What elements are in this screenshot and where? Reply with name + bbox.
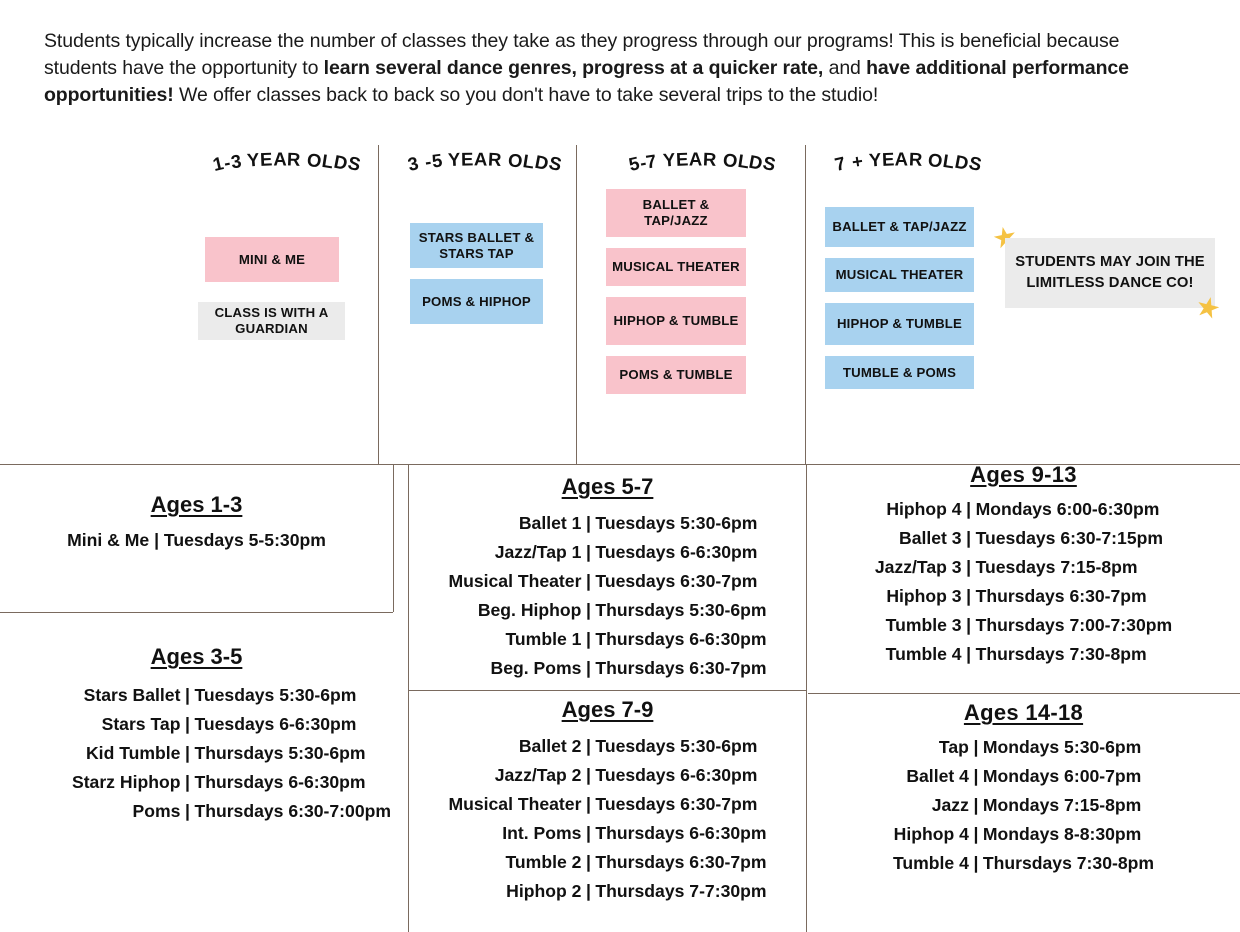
schedule-class-name: Musical Theater xyxy=(448,789,581,818)
schedule-row: Tumble 1|Thursdays 6-6:30pm xyxy=(448,624,766,653)
schedule-class-name: Musical Theater xyxy=(448,566,581,595)
schedule-row: Tap|Mondays 5:30-6pm xyxy=(893,732,1154,761)
schedule-ages-9-13: Ages 9-13 Hiphop 4|Mondays 6:00-6:30pmBa… xyxy=(807,462,1240,668)
intro-paragraph: Students typically increase the number o… xyxy=(44,28,1194,109)
schedule-class-name: Ballet 3 xyxy=(875,523,962,552)
schedule-class-name: Stars Ballet xyxy=(72,680,181,709)
schedule-row: Stars Tap|Tuesdays 6-6:30pm xyxy=(72,709,391,738)
class-chip-poms-tumble-5-7[interactable]: POMS & TUMBLE xyxy=(606,356,746,394)
schedule-row: Ballet 4|Mondays 6:00-7pm xyxy=(893,761,1154,790)
age-band-5-7-title: 5-7 YEAR OLDS xyxy=(596,135,805,175)
intro-bold-1: learn several dance genres, progress at … xyxy=(324,57,824,79)
schedule-separator: | xyxy=(581,731,595,760)
schedule-class-name: Int. Poms xyxy=(448,818,581,847)
age-band-5-7: 5-7 YEAR OLDS BALLET & TAP/JAZZ MUSICAL … xyxy=(596,135,805,405)
schedule-class-name: Starz Hiphop xyxy=(72,767,181,796)
schedule-row: Hiphop 2|Thursdays 7-7:30pm xyxy=(448,876,766,905)
schedule-ages-3-5-rows: Stars Ballet|Tuesdays 5:30-6pmStars Tap|… xyxy=(72,680,391,825)
schedule-ages-9-13-title: Ages 9-13 xyxy=(807,462,1240,488)
schedule-separator: | xyxy=(581,595,595,624)
schedule-ages-5-7: Ages 5-7 Ballet 1|Tuesdays 5:30-6pmJazz/… xyxy=(409,474,806,682)
schedule-class-name: Tumble 1 xyxy=(448,624,581,653)
schedule-separator: | xyxy=(581,789,595,818)
schedule-ages-14-18-title: Ages 14-18 xyxy=(807,700,1240,726)
schedule-class-time: Thursdays 6-6:30pm xyxy=(595,624,766,653)
limitless-dance-co-callout: STUDENTS MAY JOIN THE LIMITLESS DANCE CO… xyxy=(1005,238,1215,308)
schedule-separator: | xyxy=(581,537,595,566)
class-chip-musical-theater-5-7[interactable]: MUSICAL THEATER xyxy=(606,248,746,286)
class-chip-poms-hiphop[interactable]: POMS & HIPHOP xyxy=(410,279,543,324)
schedule-separator: | xyxy=(962,581,976,610)
schedule-separator: | xyxy=(581,876,595,905)
schedule-class-name: Ballet 4 xyxy=(893,761,969,790)
schedule-row: Hiphop 4|Mondays 8-8:30pm xyxy=(893,819,1154,848)
schedule-class-time: Thursdays 6-6:30pm xyxy=(194,767,391,796)
class-chip-hiphop-tumble-7plus[interactable]: HIPHOP & TUMBLE xyxy=(825,303,974,345)
schedule-class-name: Hiphop 3 xyxy=(875,581,962,610)
schedule-ages-3-5: Ages 3-5 Stars Ballet|Tuesdays 5:30-6pmS… xyxy=(0,644,393,825)
class-chip-musical-theater-7plus[interactable]: MUSICAL THEATER xyxy=(825,258,974,292)
schedule-row: Tumble 4|Thursdays 7:30-8pm xyxy=(893,848,1154,877)
schedule-class-name: Tumble 3 xyxy=(875,610,962,639)
schedule-separator: | xyxy=(969,732,983,761)
schedule-separator: | xyxy=(180,680,194,709)
schedule-separator: | xyxy=(969,819,983,848)
schedule-ages-14-18: Ages 14-18 Tap|Mondays 5:30-6pmBallet 4|… xyxy=(807,700,1240,877)
schedule-separator: | xyxy=(962,523,976,552)
schedule-row: Poms|Thursdays 6:30-7:00pm xyxy=(72,796,391,825)
class-chip-stars-ballet-stars-tap[interactable]: STARS BALLET & STARS TAP xyxy=(410,223,543,268)
schedule-class-time: Tuesdays 5:30-6pm xyxy=(194,680,391,709)
schedule-grid-vline-left-top xyxy=(393,464,394,612)
schedule-class-time: Thursdays 7-7:30pm xyxy=(595,876,766,905)
schedule-class-time: Thursdays 7:30-8pm xyxy=(976,639,1173,668)
schedule-class-time: Tuesdays 5:30-6pm xyxy=(595,731,766,760)
schedule-row: Tumble 3|Thursdays 7:00-7:30pm xyxy=(875,610,1172,639)
schedule-ages-7-9-title: Ages 7-9 xyxy=(409,697,806,723)
class-chip-hiphop-tumble-5-7[interactable]: HIPHOP & TUMBLE xyxy=(606,297,746,345)
schedule-class-name: Tap xyxy=(893,732,969,761)
intro-text-mid: and xyxy=(823,57,866,79)
age-band-1-3-title: 1-3 YEAR OLDS xyxy=(190,135,378,175)
schedule-class-name: Jazz/Tap 1 xyxy=(448,537,581,566)
band-divider-3 xyxy=(805,145,806,465)
schedule-class-name: Jazz/Tap 2 xyxy=(448,760,581,789)
age-band-3-5: 3 -5 YEAR OLDS STARS BALLET & STARS TAP … xyxy=(388,135,576,335)
schedule-separator: | xyxy=(962,494,976,523)
schedule-row: Hiphop 3|Thursdays 6:30-7pm xyxy=(875,581,1172,610)
schedule-class-time: Thursdays 6:30-7pm xyxy=(595,847,766,876)
schedule-class-time: Thursdays 6:30-7pm xyxy=(976,581,1173,610)
schedule-row: Beg. Poms|Thursdays 6:30-7pm xyxy=(448,653,766,682)
schedule-ages-7-9-rows: Ballet 2|Tuesdays 5:30-6pmJazz/Tap 2|Tue… xyxy=(448,731,766,905)
schedule-class-time: Thursdays 7:00-7:30pm xyxy=(976,610,1173,639)
schedule-row: Int. Poms|Thursdays 6-6:30pm xyxy=(448,818,766,847)
schedule-class-name: Tumble 2 xyxy=(448,847,581,876)
schedule-class-name: Ballet 1 xyxy=(448,508,581,537)
schedule-ages-7-9: Ages 7-9 Ballet 2|Tuesdays 5:30-6pmJazz/… xyxy=(409,697,806,905)
age-band-1-3-chips: MINI & ME CLASS IS WITH A GUARDIAN xyxy=(190,237,378,340)
schedule-class-name: Ballet 2 xyxy=(448,731,581,760)
schedule-class-name: Jazz xyxy=(893,790,969,819)
schedule-separator: | xyxy=(969,848,983,877)
schedule-class-name: Beg. Hiphop xyxy=(448,595,581,624)
schedule-class-time: Thursdays 6:30-7pm xyxy=(595,653,766,682)
schedule-row: Hiphop 4|Mondays 6:00-6:30pm xyxy=(875,494,1172,523)
schedule-ages-1-3-title: Ages 1-3 xyxy=(0,492,393,518)
schedule-class-time: Thursdays 5:30-6pm xyxy=(194,738,391,767)
schedule-class-time: Mondays 7:15-8pm xyxy=(983,790,1154,819)
band-divider-1 xyxy=(378,145,379,465)
age-band-7-plus-chips: BALLET & TAP/JAZZ MUSICAL THEATER HIPHOP… xyxy=(815,207,1000,389)
schedule-row: Kid Tumble|Thursdays 5:30-6pm xyxy=(72,738,391,767)
schedule-separator: | xyxy=(581,624,595,653)
schedule-class-time: Tuesdays 7:15-8pm xyxy=(976,552,1173,581)
schedule-separator: | xyxy=(581,760,595,789)
class-chip-mini-and-me[interactable]: MINI & ME xyxy=(205,237,339,282)
schedule-class-time: Mondays 8-8:30pm xyxy=(983,819,1154,848)
schedule-row: Musical Theater|Tuesdays 6:30-7pm xyxy=(448,789,766,818)
schedule-separator: | xyxy=(581,818,595,847)
class-chip-ballet-tapjazz-7plus[interactable]: BALLET & TAP/JAZZ xyxy=(825,207,974,247)
schedule-row: Jazz/Tap 1|Tuesdays 6-6:30pm xyxy=(448,537,766,566)
schedule-separator: | xyxy=(180,767,194,796)
schedule-class-time: Tuesdays 6-6:30pm xyxy=(595,537,766,566)
schedule-separator: | xyxy=(962,552,976,581)
intro-text-2: We offer classes back to back so you don… xyxy=(174,84,878,106)
note-chip-guardian: CLASS IS WITH A GUARDIAN xyxy=(198,302,345,340)
schedule-separator: | xyxy=(962,639,976,668)
schedule-separator: | xyxy=(581,566,595,595)
schedule-row: Jazz/Tap 3|Tuesdays 7:15-8pm xyxy=(875,552,1172,581)
schedule-row: Ballet 2|Tuesdays 5:30-6pm xyxy=(448,731,766,760)
schedule-class-time: Thursdays 6:30-7:00pm xyxy=(194,796,391,825)
age-band-5-7-chips: BALLET & TAP/JAZZ MUSICAL THEATER HIPHOP… xyxy=(596,189,805,394)
schedule-ages-9-13-rows: Hiphop 4|Mondays 6:00-6:30pmBallet 3|Tue… xyxy=(875,494,1172,668)
schedule-grid-line-center-middle xyxy=(408,690,806,691)
age-band-3-5-chips: STARS BALLET & STARS TAP POMS & HIPHOP xyxy=(388,223,576,324)
schedule-class-time: Mondays 6:00-6:30pm xyxy=(976,494,1173,523)
schedule-class-name: Hiphop 4 xyxy=(893,819,969,848)
schedule-separator: | xyxy=(581,653,595,682)
schedule-class-name: Tumble 4 xyxy=(893,848,969,877)
schedule-class-time: Thursdays 6-6:30pm xyxy=(595,818,766,847)
schedule-row-mini-and-me: Mini & Me | Tuesdays 5-5:30pm xyxy=(0,530,393,551)
schedule-separator: | xyxy=(969,790,983,819)
schedule-ages-3-5-title: Ages 3-5 xyxy=(0,644,393,670)
schedule-class-name: Jazz/Tap 3 xyxy=(875,552,962,581)
schedule-class-time: Thursdays 5:30-6pm xyxy=(595,595,766,624)
schedule-class-time: Tuesdays 6:30-7pm xyxy=(595,789,766,818)
schedule-ages-14-18-rows: Tap|Mondays 5:30-6pmBallet 4|Mondays 6:0… xyxy=(893,732,1154,877)
schedule-row: Starz Hiphop|Thursdays 6-6:30pm xyxy=(72,767,391,796)
schedule-class-time: Tuesdays 6:30-7:15pm xyxy=(976,523,1173,552)
schedule-class-time: Thursdays 7:30-8pm xyxy=(983,848,1154,877)
schedule-separator: | xyxy=(180,709,194,738)
schedule-row: Beg. Hiphop|Thursdays 5:30-6pm xyxy=(448,595,766,624)
age-band-7-plus: 7 + YEAR OLDS BALLET & TAP/JAZZ MUSICAL … xyxy=(815,135,1000,400)
schedule-row: Ballet 3|Tuesdays 6:30-7:15pm xyxy=(875,523,1172,552)
schedule-class-time: Tuesdays 6-6:30pm xyxy=(194,709,391,738)
age-band-3-5-title: 3 -5 YEAR OLDS xyxy=(388,135,576,175)
schedule-row: Musical Theater|Tuesdays 6:30-7pm xyxy=(448,566,766,595)
schedule-row: Jazz/Tap 2|Tuesdays 6-6:30pm xyxy=(448,760,766,789)
schedule-class-time: Tuesdays 6-6:30pm xyxy=(595,760,766,789)
schedule-separator: | xyxy=(180,796,194,825)
schedule-class-time: Mondays 5:30-6pm xyxy=(983,732,1154,761)
schedule-class-time: Tuesdays 5:30-6pm xyxy=(595,508,766,537)
schedule-row: Stars Ballet|Tuesdays 5:30-6pm xyxy=(72,680,391,709)
schedule-class-time: Mondays 6:00-7pm xyxy=(983,761,1154,790)
schedule-ages-1-3: Ages 1-3 Mini & Me | Tuesdays 5-5:30pm xyxy=(0,492,393,551)
schedule-ages-5-7-rows: Ballet 1|Tuesdays 5:30-6pmJazz/Tap 1|Tue… xyxy=(448,508,766,682)
schedule-separator: | xyxy=(962,610,976,639)
schedule-row: Tumble 4|Thursdays 7:30-8pm xyxy=(875,639,1172,668)
schedule-class-name: Kid Tumble xyxy=(72,738,181,767)
schedule-class-name: Hiphop 2 xyxy=(448,876,581,905)
schedule-ages-5-7-title: Ages 5-7 xyxy=(409,474,806,500)
schedule-row: Jazz|Mondays 7:15-8pm xyxy=(893,790,1154,819)
schedule-class-name: Stars Tap xyxy=(72,709,181,738)
schedule-row: Tumble 2|Thursdays 6:30-7pm xyxy=(448,847,766,876)
schedule-class-time: Tuesdays 6:30-7pm xyxy=(595,566,766,595)
schedule-separator: | xyxy=(581,847,595,876)
schedule-separator: | xyxy=(180,738,194,767)
schedule-row: Ballet 1|Tuesdays 5:30-6pm xyxy=(448,508,766,537)
schedule-separator: | xyxy=(581,508,595,537)
schedule-class-name: Tumble 4 xyxy=(875,639,962,668)
class-chip-ballet-tapjazz-5-7[interactable]: BALLET & TAP/JAZZ xyxy=(606,189,746,237)
schedule-class-name: Poms xyxy=(72,796,181,825)
schedule-grid-line-right-middle xyxy=(808,693,1240,694)
band-divider-2 xyxy=(576,145,577,465)
age-band-1-3: 1-3 YEAR OLDS MINI & ME CLASS IS WITH A … xyxy=(190,135,378,351)
age-band-7-plus-title: 7 + YEAR OLDS xyxy=(815,135,1000,175)
schedule-separator: | xyxy=(969,761,983,790)
schedule-grid-line-left-middle xyxy=(0,612,393,613)
schedule-class-name: Hiphop 4 xyxy=(875,494,962,523)
class-chip-tumble-poms-7plus[interactable]: TUMBLE & POMS xyxy=(825,356,974,389)
schedule-class-name: Beg. Poms xyxy=(448,653,581,682)
